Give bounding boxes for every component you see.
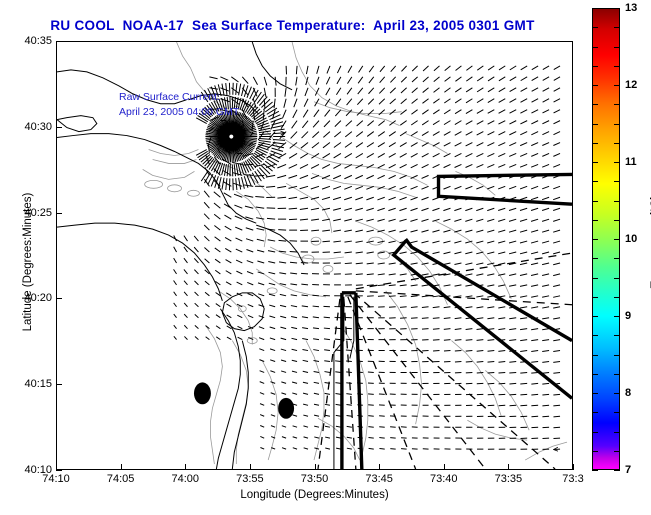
- colorbar-tick-mark: [592, 239, 598, 240]
- y-tick-mark: [56, 470, 62, 471]
- colorbar-tick-mark: [614, 27, 620, 28]
- colorbar-tick-mark: [592, 374, 598, 375]
- colorbar-tick-mark: [614, 47, 620, 48]
- colorbar-tick-mark: [592, 297, 598, 298]
- colorbar-tick-mark: [614, 104, 620, 105]
- colorbar-tick-mark: [614, 220, 620, 221]
- x-tick-mark: [315, 464, 316, 470]
- colorbar-tick-mark: [592, 220, 598, 221]
- colorbar-tick-mark: [614, 201, 620, 202]
- colorbar-tick-label: 10: [625, 233, 637, 245]
- radar-site-marker: [194, 382, 211, 404]
- colorbar-tick-mark: [614, 316, 620, 317]
- colorbar-tick-mark: [592, 124, 598, 125]
- x-tick-label: 73:3: [562, 473, 583, 485]
- colorbar-tick-label: 13: [625, 2, 637, 14]
- y-tick-mark: [56, 384, 62, 385]
- x-tick-mark: [444, 464, 445, 470]
- y-axis-label: Latitude (Degrees:Minutes): [22, 172, 34, 352]
- colorbar-tick-mark: [592, 355, 598, 356]
- colorbar-tick-mark: [592, 162, 598, 163]
- colorbar-tick-mark: [614, 335, 620, 336]
- colorbar-tick-mark: [614, 258, 620, 259]
- colorbar-tick-mark: [614, 162, 620, 163]
- colorbar-tick-mark: [592, 412, 598, 413]
- colorbar-tick-mark: [614, 8, 620, 9]
- x-tick-label: 73:45: [365, 473, 393, 485]
- x-tick-mark: [508, 464, 509, 470]
- y-tick-mark: [56, 41, 62, 42]
- y-tick-label: 40:30: [24, 121, 52, 133]
- colorbar-tick-mark: [592, 143, 598, 144]
- colorbar-tick-mark: [592, 335, 598, 336]
- colorbar-tick-mark: [592, 451, 598, 452]
- x-tick-mark: [250, 464, 251, 470]
- x-tick-label: 73:35: [495, 473, 523, 485]
- colorbar-tick-mark: [592, 104, 598, 105]
- x-tick-mark: [573, 464, 574, 470]
- colorbar-tick-label: 12: [625, 79, 637, 91]
- colorbar-tick-mark: [592, 470, 598, 471]
- colorbar-tick-mark: [592, 8, 598, 9]
- x-tick-label: 73:55: [236, 473, 264, 485]
- y-tick-mark: [56, 298, 62, 299]
- colorbar-tick-mark: [614, 85, 620, 86]
- colorbar-tick-mark: [614, 393, 620, 394]
- colorbar-tick-mark: [614, 374, 620, 375]
- x-tick-label: 73:40: [430, 473, 458, 485]
- colorbar-tick-mark: [614, 297, 620, 298]
- colorbar-tick-label: 11: [625, 156, 637, 168]
- x-tick-label: 74:05: [107, 473, 135, 485]
- x-tick-mark: [185, 464, 186, 470]
- y-tick-mark: [56, 213, 62, 214]
- colorbar-tick-mark: [614, 143, 620, 144]
- y-tick-label: 40:15: [24, 378, 52, 390]
- map-plot-area[interactable]: Raw Surface Current: April 23, 2005 04:0…: [56, 41, 573, 470]
- colorbar-tick-mark: [614, 470, 620, 471]
- colorbar-tick-mark: [592, 27, 598, 28]
- colorbar-tick-mark: [592, 316, 598, 317]
- colorbar-tick-mark: [614, 451, 620, 452]
- figure-canvas: RU COOL NOAA-17 Sea Surface Temperature:…: [0, 0, 651, 515]
- colorbar-tick-mark: [614, 412, 620, 413]
- x-tick-mark: [379, 464, 380, 470]
- colorbar-tick-mark: [614, 181, 620, 182]
- y-tick-label: 40:10: [24, 464, 52, 476]
- colorbar-tick-mark: [592, 258, 598, 259]
- colorbar-tick-mark: [592, 201, 598, 202]
- colorbar-tick-mark: [592, 278, 598, 279]
- colorbar-tick-mark: [592, 181, 598, 182]
- x-axis-label: Longitude (Degrees:Minutes): [56, 489, 573, 501]
- colorbar-tick-mark: [592, 85, 598, 86]
- chart-title: RU COOL NOAA-17 Sea Surface Temperature:…: [0, 18, 585, 33]
- x-tick-label: 74:00: [171, 473, 199, 485]
- shipping-lanes: [342, 174, 572, 469]
- radar-site-marker: [278, 398, 294, 419]
- y-tick-mark: [56, 127, 62, 128]
- colorbar-tick-label: 7: [625, 464, 631, 476]
- x-tick-label: 73:50: [301, 473, 329, 485]
- colorbar-tick-mark: [614, 124, 620, 125]
- colorbar-tick-mark: [592, 66, 598, 67]
- colorbar-tick-label: 9: [625, 310, 631, 322]
- y-tick-label: 40:35: [24, 35, 52, 47]
- colorbar-tick-mark: [614, 355, 620, 356]
- colorbar-tick-label: 8: [625, 387, 631, 399]
- map-vector-graphics: [57, 42, 572, 469]
- colorbar-tick-mark: [614, 278, 620, 279]
- colorbar-tick-mark: [614, 432, 620, 433]
- x-tick-mark: [121, 464, 122, 470]
- colorbar-tick-mark: [592, 393, 598, 394]
- colorbar-tick-mark: [614, 66, 620, 67]
- colorbar-tick-mark: [614, 239, 620, 240]
- colorbar-tick-mark: [592, 47, 598, 48]
- colorbar-tick-mark: [592, 432, 598, 433]
